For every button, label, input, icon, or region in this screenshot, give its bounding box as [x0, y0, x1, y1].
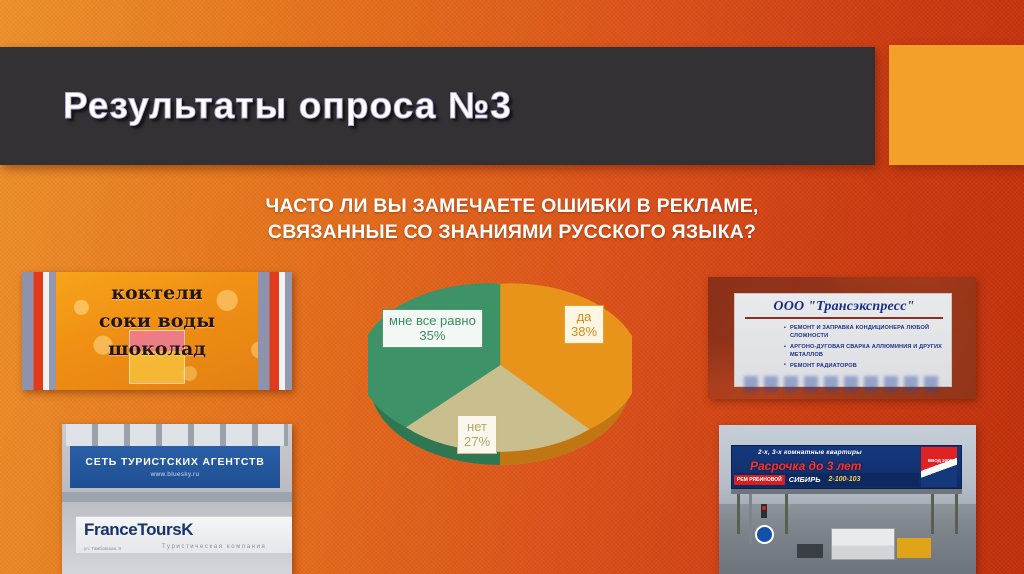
drinks-sign-line-1: коктели [60, 279, 254, 307]
pie-label-vse-ravno: мне все равно 35% [382, 309, 483, 348]
pie-label-vse-ravno-name: мне все равно [389, 313, 476, 328]
billboard-bus [831, 528, 895, 560]
pie-label-vse-ravno-value: 35% [389, 328, 476, 343]
francetours-address-text: ул. Тамбовская, 8 [84, 546, 121, 551]
billboard-tree [955, 494, 958, 534]
transexpress-plate-rule [745, 317, 943, 319]
pie-chart-svg [368, 268, 632, 473]
transexpress-service-item: АРГОНО-ДУГОВАЯ СВАРКА АЛЛЮМИНИЯ И ДРУГИХ… [784, 343, 944, 359]
francetours-awning-beam [62, 492, 292, 502]
photo-drinks-advertisement: коктели соки воды шоколад [22, 272, 292, 390]
billboard-headline: 2-х, 3-х комнатные квартиры [758, 449, 862, 456]
billboard-red-tag: РЕМ РЯБИНОВОЙ [734, 475, 785, 485]
billboard-pole [749, 492, 752, 544]
billboard-traffic-light [761, 504, 767, 518]
survey-pie-chart: да 38% нет 27% мне все равно 35% [368, 268, 632, 473]
billboard-company-name: СИБИРЬ [789, 475, 821, 484]
francetours-blue-banner: СЕТЬ ТУРИСТСКИХ АГЕНТСТВ www.bluesky.ru [70, 446, 280, 488]
billboard-car [797, 544, 823, 558]
pie-label-net-name: нет [467, 419, 487, 434]
francetours-banner-url: www.bluesky.ru [151, 471, 200, 478]
page-title: Результаты опроса №3 [63, 85, 512, 127]
billboard-truck [897, 538, 931, 558]
drinks-sign-line-3: шоколад [60, 335, 254, 363]
transexpress-service-item: РЕМОНТ РАДИАТОРОВ [784, 362, 944, 370]
francetours-subtitle-text: Туристическая компания [162, 544, 266, 550]
photo-francetours-sign: СЕТЬ ТУРИСТСКИХ АГЕНТСТВ www.bluesky.ru … [62, 424, 292, 574]
pie-label-net: нет 27% [457, 415, 497, 454]
accent-block [889, 45, 1024, 165]
survey-question-line-1: ЧАСТО ЛИ ВЫ ЗАМЕЧАЕТЕ ОШИБКИ В РЕКЛАМЕ, [0, 193, 1024, 219]
billboard-panel: 2-х, 3-х комнатные квартиры Расрочка до … [731, 445, 962, 489]
billboard-ribbon [921, 447, 957, 487]
transexpress-blurred-phone [744, 376, 944, 392]
billboard-road-sign-icon [755, 525, 774, 544]
transexpress-plate: ООО "Трансэкспресс" РЕМОНТ И ЗАПРАВКА КО… [734, 293, 952, 387]
transexpress-plate-title: ООО "Трансэкспресс" [744, 299, 944, 315]
drinks-sign-text: коктели соки воды шоколад [60, 279, 254, 363]
pie-label-da-value: 38% [571, 324, 597, 339]
pie-label-da: да 38% [564, 305, 604, 344]
billboard-tree [785, 490, 788, 534]
billboard-bottom-bar: РЕМ РЯБИНОВОЙ СИБИРЬ 2-100-103 [734, 473, 919, 486]
francetours-windows [66, 424, 288, 446]
presentation-slide: Результаты опроса №3 ЧАСТО ЛИ ВЫ ЗАМЕЧАЕ… [0, 0, 1024, 574]
drinks-photo-left-strip [22, 272, 56, 390]
billboard-phone-number: 2-100-103 [829, 476, 861, 483]
francetours-white-sign: FranceToursK Туристическая компания ул. … [76, 516, 292, 553]
billboard-ribbon-text: ВВОД 2009 [925, 458, 955, 464]
drinks-photo-right-strip [258, 272, 292, 390]
francetours-banner-text: СЕТЬ ТУРИСТСКИХ АГЕНТСТВ [85, 456, 264, 468]
title-bar: Результаты опроса №3 [0, 47, 875, 165]
photo-transexpress-sign: ООО "Трансэкспресс" РЕМОНТ И ЗАПРАВКА КО… [708, 277, 976, 399]
photo-street-billboard: 2-х, 3-х комнатные квартиры Расрочка до … [719, 425, 976, 574]
transexpress-service-item: РЕМОНТ И ЗАПРАВКА КОНДИЦИОНЕРА ЛЮБОЙ СЛО… [784, 324, 944, 340]
pie-label-net-value: 27% [464, 434, 490, 449]
survey-question-line-2: СВЯЗАННЫЕ СО ЗНАНИЯМИ РУССКОГО ЯЗЫКА? [0, 219, 1024, 245]
pie-label-da-name: да [577, 309, 592, 324]
drinks-sign-line-2: соки воды [60, 307, 254, 335]
transexpress-service-list: РЕМОНТ И ЗАПРАВКА КОНДИЦИОНЕРА ЛЮБОЙ СЛО… [744, 324, 944, 370]
billboard-offer-text: Расрочка до 3 лет [750, 459, 861, 473]
survey-question: ЧАСТО ЛИ ВЫ ЗАМЕЧАЕТЕ ОШИБКИ В РЕКЛАМЕ, … [0, 193, 1024, 245]
francetours-brand-text: FranceToursK [84, 520, 193, 540]
